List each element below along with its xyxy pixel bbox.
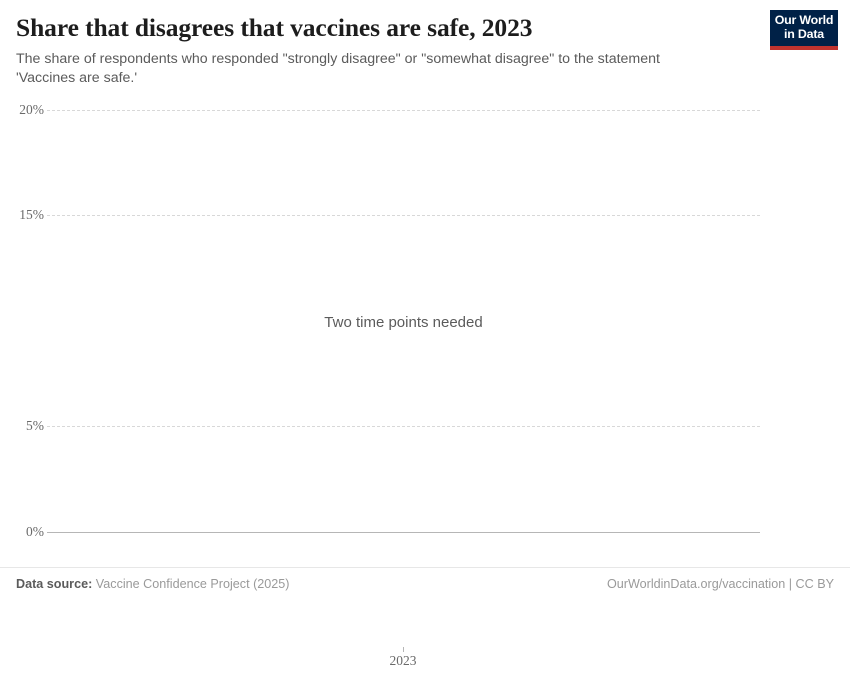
- y-axis-label-5: 5%: [4, 419, 44, 433]
- y-axis-tick-20: 20%: [0, 103, 44, 117]
- y-axis-label-15: 15%: [4, 208, 44, 222]
- chart-footer: Data source: Vaccine Confidence Project …: [0, 567, 850, 600]
- gridline-5: [47, 426, 760, 427]
- y-axis-tick-5: 5%: [0, 419, 44, 433]
- chart-subtitle: The share of respondents who responded "…: [16, 50, 716, 88]
- x-axis-label-2023: 2023: [390, 654, 417, 668]
- plot-area: 20% 15% 10% Two time points needed 5% 0%: [0, 96, 850, 556]
- empty-state-message: Two time points needed: [0, 310, 807, 336]
- gridline-15: [47, 215, 760, 216]
- chart-header: Share that disagrees that vaccines are s…: [0, 0, 850, 96]
- our-world-in-data-logo[interactable]: Our World in Data: [770, 10, 838, 50]
- data-source-label: Data source:: [16, 577, 92, 591]
- y-axis-tick-0: 0%: [0, 525, 44, 539]
- page-title: Share that disagrees that vaccines are s…: [16, 13, 532, 43]
- axis-baseline-0: [47, 532, 760, 533]
- y-axis-label-20: 20%: [4, 103, 44, 117]
- y-axis-label-0: 0%: [4, 525, 44, 539]
- y-axis-tick-15: 15%: [0, 208, 44, 222]
- logo-line-1: Our World: [775, 14, 834, 28]
- attribution-link[interactable]: OurWorldinData.org/vaccination | CC BY: [607, 577, 834, 591]
- data-source: Data source: Vaccine Confidence Project …: [16, 577, 289, 591]
- chart-container: Share that disagrees that vaccines are s…: [0, 0, 850, 600]
- empty-state-message-text: Two time points needed: [314, 314, 492, 331]
- x-axis: 2023: [0, 652, 850, 676]
- logo-line-2: in Data: [784, 28, 824, 42]
- x-axis-tick-mark-2023: [403, 647, 404, 652]
- data-source-value: Vaccine Confidence Project (2025): [96, 577, 290, 591]
- gridline-20: [47, 110, 760, 111]
